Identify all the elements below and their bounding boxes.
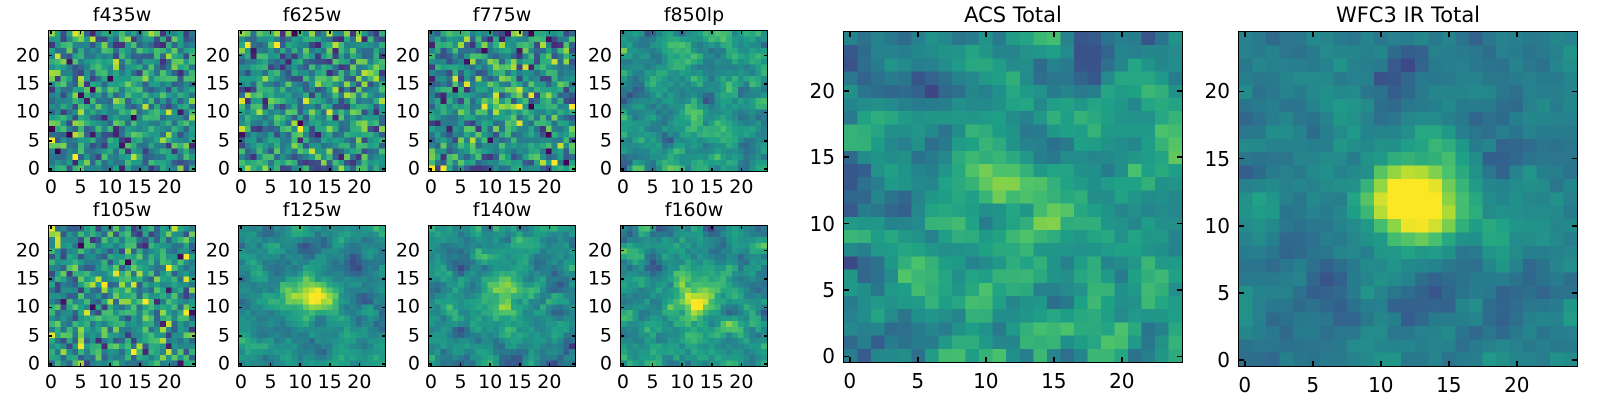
panel-wfc3-ir-total: WFC3 IR Total0510152005101520 <box>0 0 1600 400</box>
x-tick-top-wfc3-ir-total-3 <box>1448 31 1450 37</box>
x-tick-top-wfc3-ir-total-1 <box>1312 31 1314 37</box>
x-tick-wfc3-ir-total-2 <box>1380 361 1382 367</box>
y-tick-wfc3-ir-total-3 <box>1238 158 1244 160</box>
y-tick-wfc3-ir-total-2 <box>1238 225 1244 227</box>
y-tick-right-wfc3-ir-total-4 <box>1572 91 1578 93</box>
x-tick-wfc3-ir-total-0 <box>1244 361 1246 367</box>
y-tick-right-wfc3-ir-total-1 <box>1572 292 1578 294</box>
y-tick-wfc3-ir-total-0 <box>1238 359 1244 361</box>
x-ticklabel-wfc3-ir-total-2: 10 <box>1368 375 1393 395</box>
y-ticklabel-wfc3-ir-total-0: 0 <box>1186 350 1230 370</box>
x-ticklabel-wfc3-ir-total-3: 15 <box>1436 375 1461 395</box>
y-tick-wfc3-ir-total-4 <box>1238 91 1244 93</box>
x-tick-wfc3-ir-total-3 <box>1448 361 1450 367</box>
x-ticklabel-wfc3-ir-total-4: 20 <box>1504 375 1529 395</box>
y-ticklabel-wfc3-ir-total-4: 20 <box>1186 81 1230 101</box>
y-tick-wfc3-ir-total-1 <box>1238 292 1244 294</box>
y-tick-right-wfc3-ir-total-3 <box>1572 158 1578 160</box>
x-tick-wfc3-ir-total-4 <box>1516 361 1518 367</box>
x-ticklabel-wfc3-ir-total-0: 0 <box>1238 375 1251 395</box>
x-tick-top-wfc3-ir-total-4 <box>1516 31 1518 37</box>
panel-title-wfc3-ir-total: WFC3 IR Total <box>1238 5 1578 26</box>
y-tick-right-wfc3-ir-total-0 <box>1572 359 1578 361</box>
x-ticklabel-wfc3-ir-total-1: 5 <box>1306 375 1319 395</box>
y-ticklabel-wfc3-ir-total-2: 10 <box>1186 216 1230 236</box>
heatmap-wfc3-ir-total <box>1238 31 1578 367</box>
y-tick-right-wfc3-ir-total-2 <box>1572 225 1578 227</box>
figure-canvas: f435w0510152005101520f625w05101520051015… <box>0 0 1600 400</box>
x-tick-wfc3-ir-total-1 <box>1312 361 1314 367</box>
x-tick-top-wfc3-ir-total-0 <box>1244 31 1246 37</box>
y-ticklabel-wfc3-ir-total-3: 15 <box>1186 149 1230 169</box>
y-ticklabel-wfc3-ir-total-1: 5 <box>1186 283 1230 303</box>
x-tick-top-wfc3-ir-total-2 <box>1380 31 1382 37</box>
